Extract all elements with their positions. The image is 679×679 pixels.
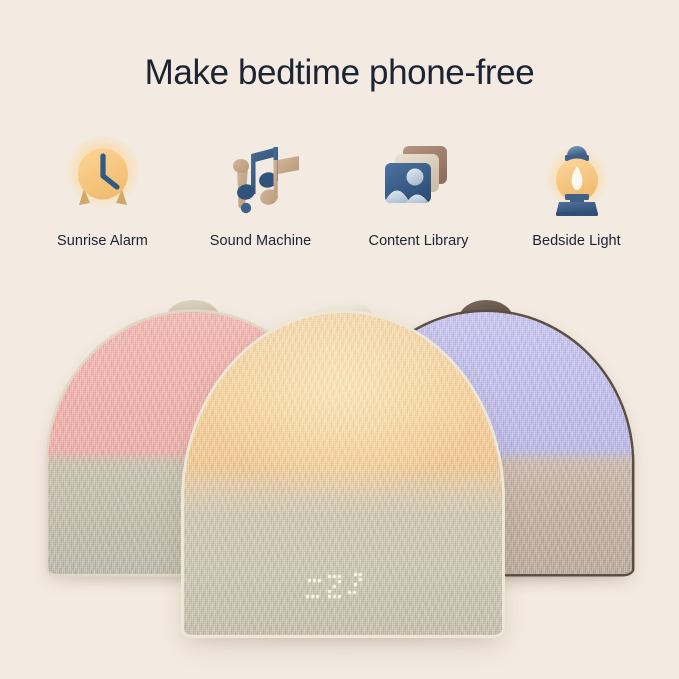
feature-label: Sound Machine <box>210 233 311 249</box>
device-center-body <box>184 313 502 635</box>
product-feature-page: Make bedtime phone-free <box>0 0 679 679</box>
feature-list: Sunrise Alarm <box>0 132 679 249</box>
product-device-center[interactable] <box>184 313 502 635</box>
music-notes-icon <box>215 132 307 224</box>
page-title: Make bedtime phone-free <box>0 52 679 94</box>
photo-stack-icon <box>373 132 465 224</box>
device-center-panel <box>184 313 502 635</box>
feature-label: Content Library <box>369 233 469 249</box>
feature-label: Sunrise Alarm <box>57 233 148 249</box>
feature-item-sunrise-alarm[interactable]: Sunrise Alarm <box>24 132 182 249</box>
feature-item-sound-machine[interactable]: Sound Machine <box>182 132 340 249</box>
feature-item-content-library[interactable]: Content Library <box>340 132 498 249</box>
product-image-group <box>0 290 679 679</box>
feature-label: Bedside Light <box>532 233 621 249</box>
feature-item-bedside-light[interactable]: Bedside Light <box>498 132 656 249</box>
alarm-clock-icon <box>57 132 149 224</box>
lantern-icon <box>531 132 623 224</box>
